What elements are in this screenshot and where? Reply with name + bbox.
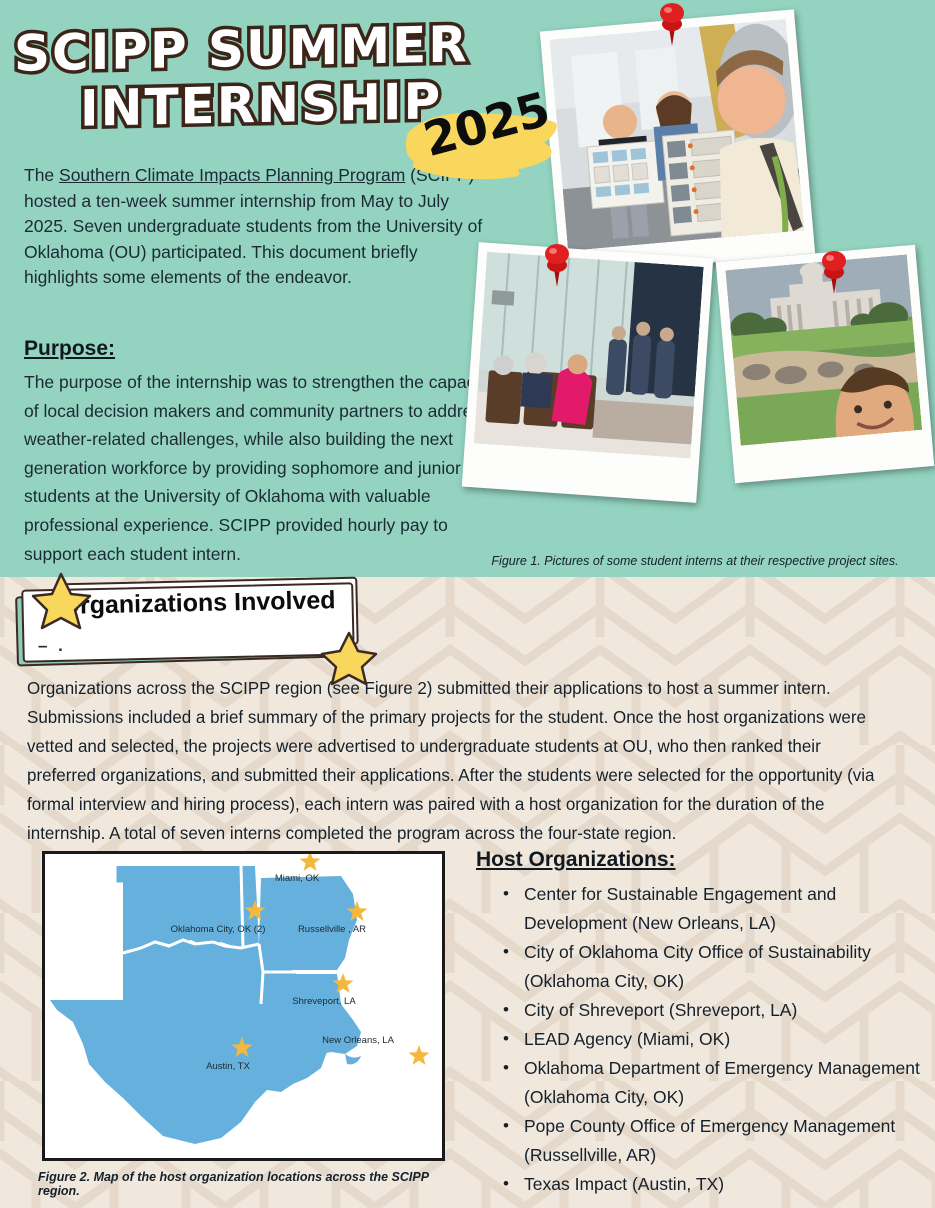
intro-lead: The	[24, 165, 59, 185]
polaroid-photo-meeting	[462, 242, 714, 503]
title-line-1: SCIPP SUMMER	[14, 19, 469, 79]
list-item: City of Shreveport (Shreveport, LA)	[497, 996, 927, 1025]
map-city-label: Shreveport, LA	[292, 996, 356, 1007]
figure-2-map: Miami, OKOklahoma City, OK (2)Russellvil…	[42, 851, 445, 1161]
figure-1-caption: Figure 1. Pictures of some student inter…	[465, 554, 925, 568]
purpose-paragraph: The purpose of the internship was to str…	[24, 368, 494, 568]
pushpin-icon	[655, 2, 689, 46]
host-organizations-heading: Host Organizations:	[476, 848, 676, 872]
list-item: Pope County Office of Emergency Manageme…	[497, 1112, 927, 1170]
map-city-label: Oklahoma City, OK (2)	[171, 924, 266, 935]
map-frame: Miami, OKOklahoma City, OK (2)Russellvil…	[42, 851, 445, 1161]
banner-title: Organizations Involved	[48, 585, 349, 622]
list-item: LEAD Agency (Miami, OK)	[497, 1025, 927, 1054]
banner-dash-mark: – .	[38, 636, 66, 656]
scipp-link[interactable]: Southern Climate Impacts Planning Progra…	[59, 165, 405, 185]
photo-interns-with-posters	[550, 19, 805, 251]
scipp-region-map: Miami, OKOklahoma City, OK (2)Russellvil…	[45, 854, 442, 1158]
map-city-label: New Orleans, LA	[322, 1035, 394, 1046]
list-item: Oklahoma Department of Emergency Managem…	[497, 1054, 927, 1112]
list-item: Texas Impact (Austin, TX)	[497, 1170, 927, 1199]
title-line-2: INTERNSHIP	[80, 76, 442, 134]
poster-page: SCIPP SUMMER INTERNSHIP 2025 The Souther…	[0, 0, 935, 1208]
star-icon	[320, 630, 378, 686]
photo-community-meeting	[474, 252, 704, 459]
pushpin-icon	[540, 243, 574, 287]
map-city-label: Miami, OK	[275, 873, 320, 884]
list-item: City of Oklahoma City Office of Sustaina…	[497, 938, 927, 996]
map-city-label: Austin, TX	[206, 1061, 250, 1072]
map-city-label: Russellville , AR	[298, 924, 366, 935]
list-item: Center for Sustainable Engagement and De…	[497, 880, 927, 938]
polaroid-photo-posters	[540, 9, 815, 275]
organizations-involved-banner: Organizations Involved – .	[8, 570, 378, 680]
figure-2-caption: Figure 2. Map of the host organization l…	[38, 1170, 448, 1198]
pushpin-icon	[817, 250, 851, 294]
host-organizations-list: Center for Sustainable Engagement and De…	[497, 880, 927, 1199]
star-icon	[30, 571, 92, 631]
purpose-heading: Purpose:	[24, 337, 115, 361]
year-badge: 2025	[404, 95, 564, 195]
organizations-paragraph: Organizations across the SCIPP region (s…	[27, 674, 884, 848]
